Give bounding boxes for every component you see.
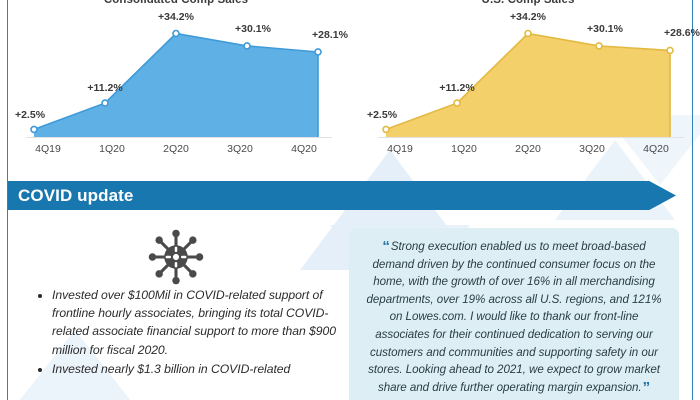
covid-bullet-item: Invested over $100Mil in COVID-related s… — [52, 286, 352, 359]
quote-body: Strong execution enabled us to meet broa… — [367, 240, 662, 394]
chart-title-consolidated: Consolidated Comp Sales — [16, 0, 336, 6]
chart-data-label-4q19: +2.5% — [15, 109, 45, 121]
chart-x-axis-us — [378, 137, 684, 138]
chart-xtick-1q20: 1Q20 — [84, 143, 140, 155]
chart-xtick-labels-us: 4Q191Q202Q203Q204Q20 — [368, 143, 688, 155]
chart-xtick-labels-consolidated: 4Q191Q202Q203Q204Q20 — [16, 143, 336, 155]
chart-data-label-3q20: +30.1% — [587, 23, 623, 35]
virus-icon — [145, 228, 207, 286]
chart-xtick-4q20: 4Q20 — [628, 143, 684, 155]
covid-bullet-list: Invested over $100Mil in COVID-related s… — [34, 286, 352, 379]
chart-data-label-2q20: +34.2% — [158, 11, 194, 23]
right-rule — [692, 0, 693, 400]
chart-title-us: U.S. Comp Sales — [368, 0, 688, 6]
slide-canvas: Consolidated Comp Sales 4Q191Q202Q203Q20… — [0, 0, 700, 400]
executive-quote-text: “Strong execution enabled us to meet bro… — [363, 238, 665, 396]
chart-xtick-3q20: 3Q20 — [564, 143, 620, 155]
chart-consolidated-comp-sales: Consolidated Comp Sales 4Q191Q202Q203Q20… — [16, 0, 336, 175]
covid-update-banner: COVID update — [8, 181, 676, 210]
chart-data-label-2q20: +34.2% — [510, 11, 546, 23]
chart-plot-us — [368, 12, 688, 137]
chart-x-axis-consolidated — [26, 137, 332, 138]
covid-bullet-item: Invested nearly $1.3 billion in COVID-re… — [52, 360, 352, 378]
chart-xtick-1q20: 1Q20 — [436, 143, 492, 155]
chart-data-label-4q19: +2.5% — [367, 109, 397, 121]
quote-close-icon: ” — [643, 379, 650, 396]
executive-quote-box: “Strong execution enabled us to meet bro… — [349, 228, 679, 400]
chart-xtick-2q20: 2Q20 — [500, 143, 556, 155]
chart-us-comp-sales: U.S. Comp Sales 4Q191Q202Q203Q204Q20 +2.… — [368, 0, 688, 175]
chart-data-label-1q20: +11.2% — [87, 82, 122, 94]
chart-xtick-2q20: 2Q20 — [148, 143, 204, 155]
chart-plot-consolidated — [16, 12, 336, 137]
chart-data-label-4q20: +28.1% — [312, 29, 348, 41]
chart-xtick-4q20: 4Q20 — [276, 143, 332, 155]
chart-xtick-4q19: 4Q19 — [20, 143, 76, 155]
chart-xtick-4q19: 4Q19 — [372, 143, 428, 155]
left-rule — [7, 0, 8, 400]
chart-data-label-3q20: +30.1% — [235, 23, 271, 35]
chart-xtick-3q20: 3Q20 — [212, 143, 268, 155]
chart-data-label-4q20: +28.6% — [664, 27, 700, 39]
quote-open-icon: “ — [382, 238, 389, 255]
chart-data-label-1q20: +11.2% — [439, 82, 474, 94]
covid-update-banner-title: COVID update — [8, 186, 134, 206]
